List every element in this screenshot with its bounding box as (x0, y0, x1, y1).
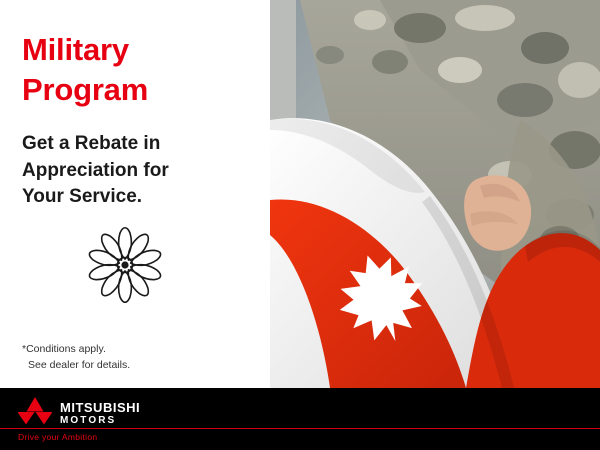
brand-tagline: Drive your Ambition (18, 432, 97, 442)
disclaimer-text: *Conditions apply. See dealer for detail… (22, 342, 130, 374)
remembrance-poppy-icon (82, 222, 168, 308)
subheadline-line-2: Appreciation for (22, 158, 248, 184)
page-title: Military Program (22, 30, 248, 109)
brand-line-2: MOTORS (60, 416, 140, 426)
banner-left-panel: Military Program Get a Rebate in Appreci… (0, 0, 270, 388)
headline-line-2: Program (22, 70, 248, 110)
disclaimer-line-1: *Conditions apply. (22, 342, 130, 358)
military-program-banner: Military Program Get a Rebate in Appreci… (0, 0, 600, 450)
mitsubishi-three-diamonds-logo (18, 396, 52, 431)
disclaimer-line-2: See dealer for details. (22, 358, 130, 374)
mitsubishi-logo-block[interactable]: MITSUBISHI MOTORS (18, 396, 140, 431)
banner-subheadline: Get a Rebate in Appreciation for Your Se… (22, 131, 248, 210)
brand-line-1: MITSUBISHI (60, 401, 140, 414)
subheadline-line-3: Your Service. (22, 184, 248, 210)
mitsubishi-wordmark: MITSUBISHI MOTORS (60, 401, 140, 426)
banner-content-area: Military Program Get a Rebate in Appreci… (0, 0, 600, 388)
headline-line-1: Military (22, 30, 248, 70)
subheadline-line-1: Get a Rebate in (22, 131, 248, 157)
banner-photo (270, 0, 600, 388)
banner-footer: MITSUBISHI MOTORS Drive your Ambition (0, 388, 600, 450)
